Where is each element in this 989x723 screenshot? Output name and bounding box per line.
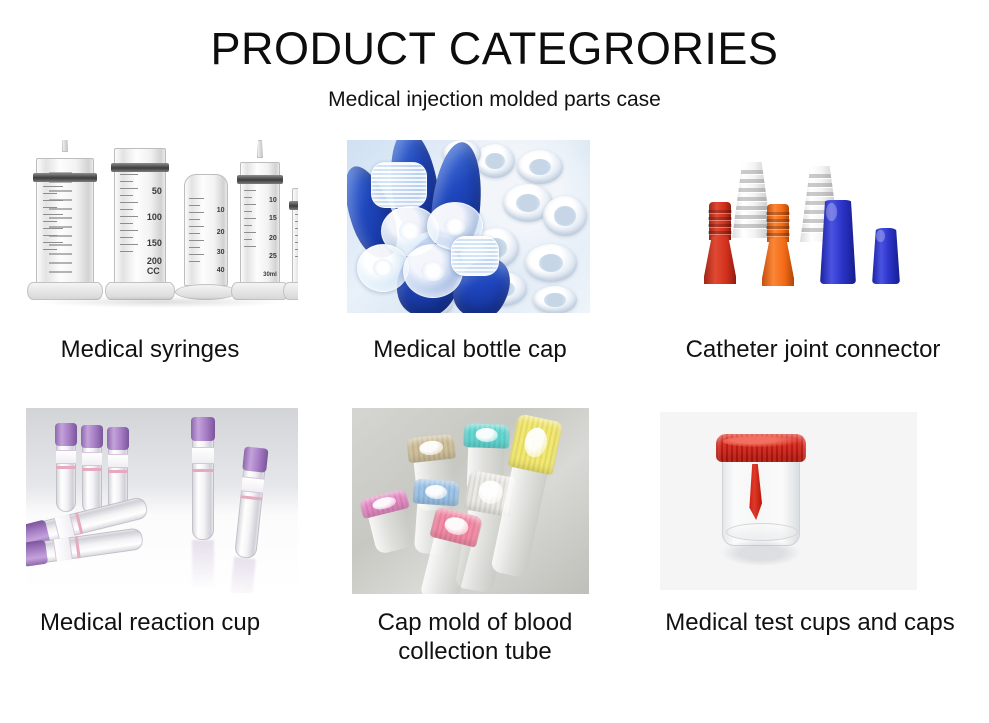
cup-reflection xyxy=(722,540,800,566)
catheter-connector-illustration xyxy=(672,140,944,324)
tube-standing-1 xyxy=(56,424,76,512)
page-title: PRODUCT CATEGRORIES xyxy=(0,26,989,71)
cup-lid xyxy=(716,434,806,462)
bottle-cap-illustration xyxy=(347,140,590,313)
product-image-medical-reaction-cup xyxy=(26,408,298,593)
product-caption-medical-bottle-cap: Medical bottle cap xyxy=(320,335,620,364)
product-image-medical-bottle-cap xyxy=(347,140,590,313)
product-caption-medical-syringes: Medical syringes xyxy=(0,335,300,364)
page-subtitle: Medical injection molded parts case xyxy=(0,88,989,112)
product-image-medical-test-cups-and-caps xyxy=(660,412,917,590)
syringe-4: 10 15 20 25 30ml xyxy=(240,154,280,300)
tube-standing-2 xyxy=(82,426,102,514)
product-image-catheter-joint-connector xyxy=(672,140,944,324)
tube-standing-5 xyxy=(234,447,267,559)
blue-cap-large xyxy=(820,200,856,284)
syringe-illustration: 50 100 150 200CC 10 20 30 40 xyxy=(26,140,298,324)
specimen-cup-illustration xyxy=(660,412,917,590)
blue-cap-small xyxy=(872,228,900,284)
tube-standing-4 xyxy=(192,418,214,540)
blood-tube-illustration xyxy=(26,408,298,593)
product-caption-cap-mold-blood-collection-tube: Cap mold of blood collection tube xyxy=(330,608,620,667)
product-caption-medical-test-cups-and-caps: Medical test cups and caps xyxy=(640,608,980,637)
orange-connector xyxy=(762,204,794,286)
syringe-5: 5 10 15 xyxy=(292,182,298,300)
syringe-1 xyxy=(36,148,94,300)
product-caption-catheter-joint-connector: Catheter joint connector xyxy=(648,335,978,364)
product-image-medical-syringes: 50 100 150 200CC 10 20 30 40 xyxy=(26,140,298,324)
syringe-3: 10 20 30 40 xyxy=(184,168,228,300)
product-caption-medical-reaction-cup: Medical reaction cup xyxy=(0,608,300,637)
syringe-2: 50 100 150 200CC xyxy=(114,140,166,300)
product-image-cap-mold-blood-collection-tube xyxy=(352,408,589,594)
cap-mold-illustration xyxy=(352,408,589,594)
product-categories-page: PRODUCT CATEGRORIES Medical injection mo… xyxy=(0,0,989,723)
red-connector xyxy=(704,202,736,284)
